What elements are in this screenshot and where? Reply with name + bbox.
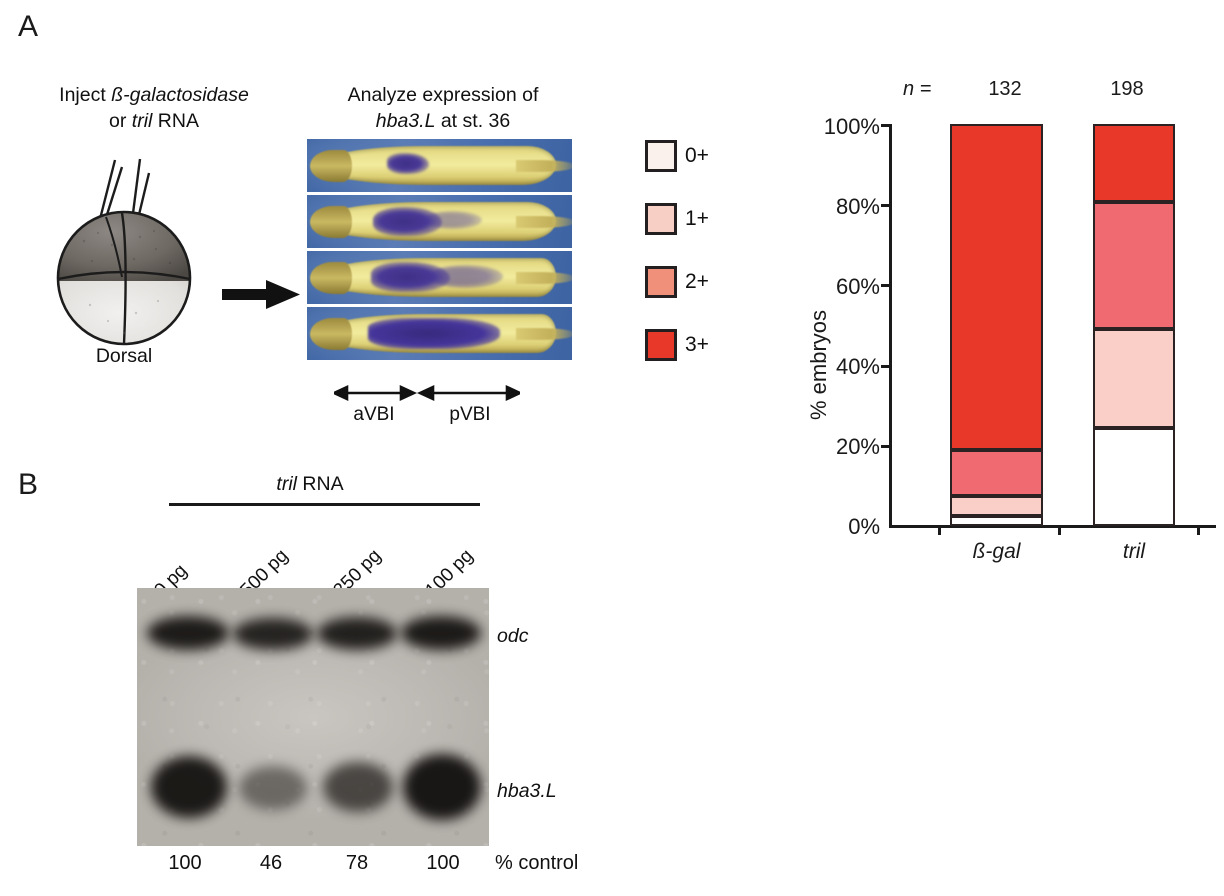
embryo-photo-3plus — [307, 307, 572, 360]
legend-swatch-3plus — [645, 329, 677, 361]
y-tick-mark-60 — [881, 284, 890, 287]
bar-segment-tril-2plus[interactable] — [1093, 202, 1175, 329]
embryo-tail — [516, 328, 572, 340]
photo-title-line1: Analyze expression of — [318, 82, 568, 108]
x-category-tril: tril — [1093, 540, 1175, 564]
quant-value-lane4: 100 — [400, 852, 486, 875]
bar-segment-tril-0plus[interactable] — [1093, 428, 1175, 526]
panel-letter-a: A — [18, 10, 38, 44]
y-tick-60: 60% — [790, 274, 880, 300]
expression-stain-faint — [424, 211, 482, 229]
legend-swatch-1plus — [645, 203, 677, 235]
x-tick-mark-left — [938, 525, 941, 535]
quant-value-lane2: 46 — [228, 852, 314, 875]
vbi-double-arrows-icon — [334, 382, 520, 404]
y-tick-40: 40% — [790, 354, 880, 380]
y-tick-100: 100% — [790, 114, 880, 140]
y-tick-mark-80 — [881, 204, 890, 207]
inject-caption-line1: Inject ß-galactosidase — [24, 82, 284, 108]
legend-label-2plus: 2+ — [685, 270, 709, 294]
blot-gene-label-hba3l: hba3.L — [497, 780, 557, 803]
embryo-tail — [516, 160, 572, 172]
y-tick-80: 80% — [790, 194, 880, 220]
x-tick-mark-mid — [1058, 525, 1061, 535]
embryo-photo-stack — [307, 139, 572, 360]
legend-swatch-0plus — [645, 140, 677, 172]
figure-root: A Inject ß-galactosidase or tril RNA — [0, 0, 1224, 896]
quant-caption: % control — [495, 852, 578, 875]
bar-bgal[interactable] — [950, 124, 1043, 526]
y-tick-20: 20% — [790, 434, 880, 460]
embryo-tail — [516, 272, 572, 284]
legend-item-1plus: 1+ — [645, 203, 709, 235]
vbi-label-pvbi: pVBI — [420, 404, 520, 426]
blot-band-hba3l-lane1 — [151, 756, 227, 818]
blot-band-hba3l-lane4 — [403, 754, 481, 820]
expression-stain-faint — [429, 265, 503, 288]
legend-swatch-2plus — [645, 266, 677, 298]
blot-title-rule — [169, 503, 480, 506]
legend-item-2plus: 2+ — [645, 266, 709, 298]
blot-title: tril RNA — [140, 473, 480, 496]
inject-caption-line2: or tril RNA — [24, 108, 284, 134]
vbi-label-avbi: aVBI — [334, 404, 414, 426]
stacked-bar-chart: n = 132 198 % embryos 100% 80% 60% 40% 2… — [790, 60, 1224, 580]
n-equals-label: n = — [903, 78, 931, 101]
bar-tril[interactable] — [1093, 124, 1175, 526]
embryo-photo-1plus — [307, 195, 572, 248]
blot-band-odc-lane3 — [317, 617, 397, 650]
blot-band-hba3l-lane3 — [323, 762, 393, 812]
blot-gene-label-odc: odc — [497, 625, 528, 648]
y-axis-line — [889, 124, 892, 528]
quant-value-lane3: 78 — [314, 852, 400, 875]
legend-label-1plus: 1+ — [685, 207, 709, 231]
embryo-photo-0plus — [307, 139, 572, 192]
expression-score-legend: 0+ 1+ 2+ 3+ — [645, 140, 709, 361]
x-category-bgal: ß-gal — [950, 540, 1043, 564]
y-tick-mark-20 — [881, 445, 890, 448]
blot-band-odc-lane1 — [147, 616, 229, 650]
bar-segment-bgal-3plus[interactable] — [950, 124, 1043, 450]
expression-stain — [368, 318, 501, 350]
bar-segment-bgal-0plus[interactable] — [950, 516, 1043, 526]
embryo-photo-2plus — [307, 251, 572, 304]
legend-item-0plus: 0+ — [645, 140, 709, 172]
bar-segment-bgal-2plus[interactable] — [950, 450, 1043, 496]
bar-segment-tril-3plus[interactable] — [1093, 124, 1175, 202]
n-value-tril: 198 — [1062, 78, 1192, 101]
quant-value-lane1: 100 — [142, 852, 228, 875]
inject-caption: Inject ß-galactosidase or tril RNA — [24, 82, 284, 134]
embryo-svg — [36, 145, 212, 355]
bar-segment-bgal-1plus[interactable] — [950, 496, 1043, 516]
photo-column-title: Analyze expression of hba3.L at st. 36 — [318, 82, 568, 134]
blot-band-odc-lane2 — [233, 618, 313, 650]
embryo-tail — [516, 216, 572, 228]
legend-label-3plus: 3+ — [685, 333, 709, 357]
embryo-diagram — [36, 145, 212, 355]
blot-band-hba3l-lane2 — [239, 766, 307, 810]
n-value-bgal: 132 — [940, 78, 1070, 101]
y-tick-0: 0% — [790, 514, 880, 540]
bar-segment-tril-1plus[interactable] — [1093, 329, 1175, 427]
photo-title-line2: hba3.L at st. 36 — [318, 108, 568, 134]
embryo-dorsal-label: Dorsal — [36, 345, 212, 368]
right-arrow-icon — [222, 278, 300, 312]
x-tick-mark-right — [1197, 525, 1200, 535]
legend-item-3plus: 3+ — [645, 329, 709, 361]
northern-blot-image — [137, 588, 489, 846]
legend-label-0plus: 0+ — [685, 144, 709, 168]
panel-letter-b: B — [18, 468, 38, 502]
y-tick-mark-40 — [881, 365, 890, 368]
expression-stain — [387, 153, 429, 174]
y-tick-mark-100 — [881, 124, 890, 127]
blot-band-odc-lane4 — [401, 616, 481, 650]
